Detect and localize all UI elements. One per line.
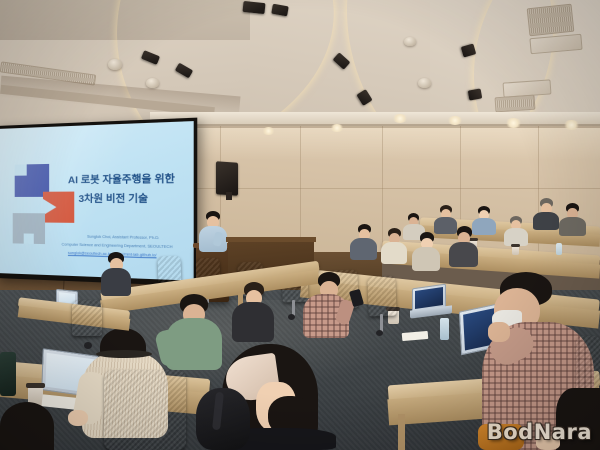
logo-arrow-red-cut xyxy=(43,199,56,216)
audience-body xyxy=(533,212,559,230)
photo-canvas: AI 로봇 자율주행을 위한 3차원 비전 기술 Sunglok Choi, A… xyxy=(0,0,600,450)
logo-square-blue xyxy=(15,164,49,197)
chair-caster xyxy=(376,330,383,336)
coffee-cup-lid xyxy=(26,383,45,388)
downlight xyxy=(262,127,275,135)
desk-leg xyxy=(398,414,405,450)
wall-speaker-bracket xyxy=(226,192,232,200)
logo-arrow-red xyxy=(43,192,74,223)
audience-body xyxy=(559,217,586,236)
logo-square-gray xyxy=(13,213,45,244)
logo-square-blue-notch xyxy=(15,164,27,175)
audience-body xyxy=(350,238,377,260)
audience-body xyxy=(381,242,407,264)
woman-cardigan-hand xyxy=(68,410,88,426)
coffee-cup-lid xyxy=(469,238,478,241)
chair[interactable] xyxy=(72,300,102,336)
slide-title-line2: 3차원 비전 기술 xyxy=(79,190,149,205)
slide-affiliation-line: Computer Science and Engineering Departm… xyxy=(62,243,173,249)
sprinkler-head xyxy=(404,37,416,46)
thermos xyxy=(0,352,16,396)
sprinkler-head xyxy=(418,78,431,88)
audience-body xyxy=(412,247,440,271)
audience-body xyxy=(232,302,274,342)
downlight xyxy=(447,116,463,125)
chair-caster xyxy=(84,342,92,349)
watermark: BodNara xyxy=(487,420,592,444)
coffee-cup xyxy=(512,246,519,255)
ceiling-vent xyxy=(495,95,536,113)
ceiling-vent xyxy=(527,4,575,37)
chair-caster xyxy=(288,314,295,320)
audience-body xyxy=(434,217,457,234)
light-junction-box xyxy=(242,1,265,14)
logo-square-gray-notch xyxy=(24,233,34,243)
downlight xyxy=(563,120,580,130)
wall-soffit-shadow xyxy=(150,124,600,128)
coffee-cup-lid xyxy=(511,244,520,247)
sprinkler-head xyxy=(108,59,122,70)
downlight xyxy=(392,114,408,123)
chair-foreground-left[interactable] xyxy=(104,370,186,450)
sprinkler-head xyxy=(146,78,159,88)
audience-body xyxy=(449,242,478,267)
slide-title-line1: AI 로봇 자율주행을 위한 xyxy=(68,170,175,186)
audience-head-bottom-left xyxy=(0,402,54,450)
chair[interactable] xyxy=(367,276,396,317)
downlight xyxy=(505,118,522,128)
water-bottle xyxy=(556,243,562,255)
foreground-man-hand xyxy=(488,322,510,342)
laptop-screen xyxy=(415,287,443,309)
downlight xyxy=(330,124,344,132)
wall-speaker-icon xyxy=(216,161,238,196)
slide-presenter-line: Sunglok Choi, Assistant Professor, Ph.D. xyxy=(87,235,159,240)
audience-body xyxy=(101,268,131,296)
woman-cardigan-collar xyxy=(96,350,152,358)
audience-body xyxy=(472,218,496,235)
water-bottle xyxy=(440,318,449,340)
front-table-top xyxy=(226,237,316,242)
